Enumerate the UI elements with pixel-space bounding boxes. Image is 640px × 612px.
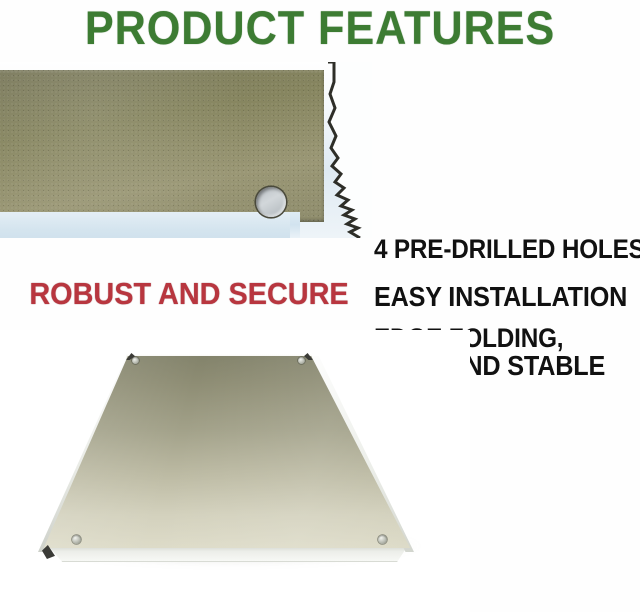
- photo-notch-area: [0, 212, 290, 238]
- pre-drilled-hole: [256, 187, 286, 217]
- torn-edge-graphic: [308, 62, 372, 238]
- metal-plate-corner-closeup-photo: [0, 62, 372, 238]
- product-features-infographic: PRODUCT FEATURES ROBUST AND SECURE 4 PRE…: [0, 0, 640, 612]
- screw-hole-top-right: [298, 357, 305, 364]
- plate-sheen: [40, 356, 414, 550]
- page-title: PRODUCT FEATURES: [26, 2, 615, 54]
- feature-item-easy-installation: EASY INSTALLATION: [374, 281, 612, 312]
- feature-item-pre-drilled-holes: 4 PRE-DRILLED HOLES: [374, 234, 612, 264]
- plate-top-face: [40, 356, 414, 550]
- screw-hole-bottom-right: [378, 535, 387, 544]
- screw-hole-bottom-left: [72, 535, 81, 544]
- metal-plate-perspective-photo: [0, 330, 470, 612]
- robust-and-secure-label: ROBUST AND SECURE: [26, 276, 352, 312]
- screw-hole-top-left: [132, 357, 139, 364]
